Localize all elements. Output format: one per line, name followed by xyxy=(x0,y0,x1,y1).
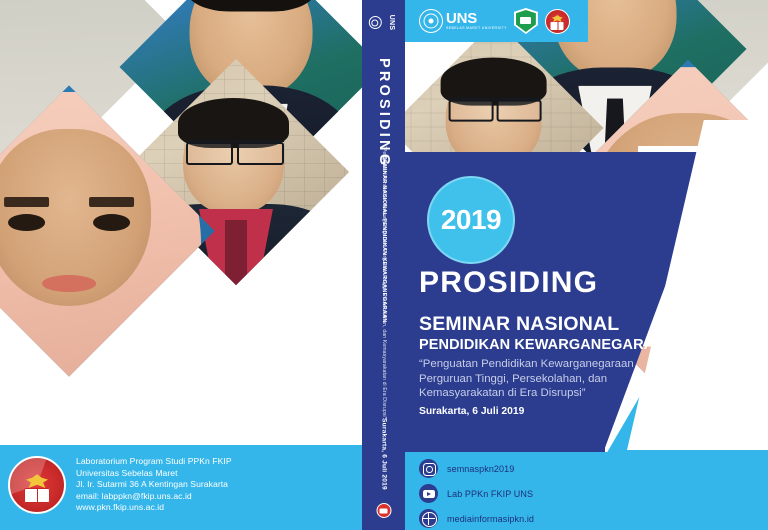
front-quote-line-2: Perguruan Tinggi, Persekolahan, dan xyxy=(419,372,719,387)
book-spine: UNS PROSIDING “Penguatan Pendidikan Kewa… xyxy=(362,0,405,530)
front-title: PROSIDING xyxy=(419,268,719,298)
uns-name: UNS xyxy=(446,11,507,26)
spine-uns-label: UNS xyxy=(388,15,395,30)
uns-logo: UNS SEBELAS MARET UNIVERSITY xyxy=(419,9,507,33)
back-cover-address: Laboratorium Program Studi PPKn FKIP Uni… xyxy=(76,456,232,514)
year-label: 2019 xyxy=(441,204,501,236)
website-handle: mediainformasipkn.id xyxy=(447,514,534,524)
address-line-3: Jl. Ir. Sutarmi 36 A Kentingan Surakarta xyxy=(76,479,232,491)
social-row-instagram[interactable]: semnaspkn2019 xyxy=(419,459,768,478)
spine-date: Surakarta, 6 Juli 2019 xyxy=(380,418,387,490)
front-date: Surakarta, 6 Juli 2019 xyxy=(419,406,719,417)
year-badge: 2019 xyxy=(427,176,515,264)
front-quote-line-1: “Penguatan Pendidikan Kewarganegaraan xyxy=(419,357,719,372)
back-cover-panel: Laboratorium Program Studi PPKn FKIP Uni… xyxy=(0,0,362,530)
instagram-icon[interactable] xyxy=(419,459,438,478)
address-line-5: www.pkn.fkip.uns.ac.id xyxy=(76,502,232,514)
instagram-handle: semnaspkn2019 xyxy=(447,464,514,474)
front-cover-footer: semnaspkn2019 Lab PPKn FKIP UNS mediainf… xyxy=(405,452,768,530)
spine-red-logo-icon xyxy=(376,503,391,518)
spine-uns-logo: UNS xyxy=(368,16,398,29)
address-line-1: Laboratorium Program Studi PPKn FKIP xyxy=(76,456,232,468)
youtube-icon[interactable] xyxy=(419,484,438,503)
fkip-uns-red-logo-icon xyxy=(545,9,570,34)
back-cover-footer: Laboratorium Program Studi PPKn FKIP Uni… xyxy=(0,445,362,530)
laboratorium-ppkn-logo-icon xyxy=(8,456,66,514)
youtube-handle: Lab PPKn FKIP UNS xyxy=(447,489,533,499)
spine-event-title: SEMINAR NASIONAL PENDIDIKAN KEWARGANEGAR… xyxy=(381,156,387,323)
social-row-website[interactable]: mediainformasipkn.id xyxy=(419,509,768,528)
school-shield-logo-icon xyxy=(514,8,538,34)
address-line-2: Universitas Sebelas Maret xyxy=(76,468,232,480)
website-icon[interactable] xyxy=(419,509,438,528)
front-cover-panel: UNS SEBELAS MARET UNIVERSITY 2019 PROSID… xyxy=(405,0,768,530)
uns-tagline: SEBELAS MARET UNIVERSITY xyxy=(446,27,507,31)
uns-seal-icon xyxy=(419,9,443,33)
front-quote-line-3: Kemasyarakatan di Era Disrupsi” xyxy=(419,386,719,401)
address-line-4: email: labppkn@fkip.uns.ac.id xyxy=(76,491,232,503)
book-cover: Laboratorium Program Studi PPKn FKIP Uni… xyxy=(0,0,768,530)
front-cover-text-block: PROSIDING SEMINAR NASIONAL PENDIDIKAN KE… xyxy=(419,268,719,417)
front-subtitle-line-2: PENDIDIKAN KEWARGANEGARAAN xyxy=(419,338,719,353)
social-row-youtube[interactable]: Lab PPKn FKIP UNS xyxy=(419,484,768,503)
front-cover-logo-bar: UNS SEBELAS MARET UNIVERSITY xyxy=(405,0,588,42)
uns-seal-icon xyxy=(368,16,381,29)
front-subtitle-line-1: SEMINAR NASIONAL xyxy=(419,315,719,335)
